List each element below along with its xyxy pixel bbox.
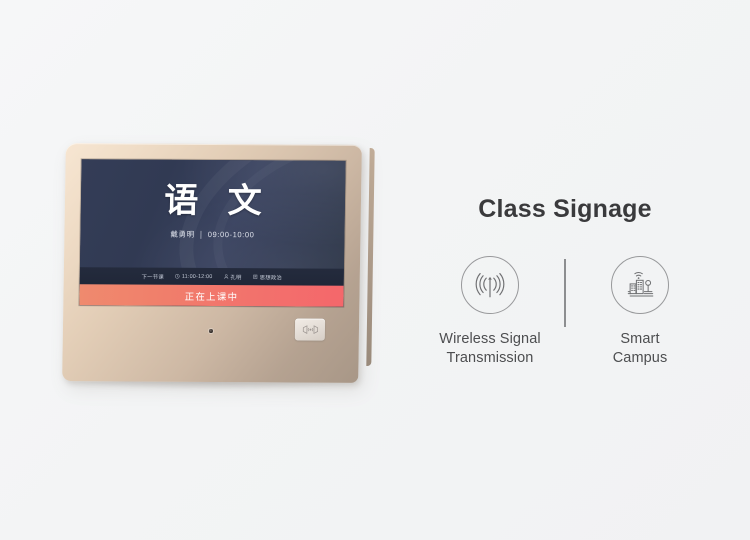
page-background: 语 文 戴勇明 09:00-10:00 下一节课	[0, 0, 750, 540]
device-bezel: 语 文 戴勇明 09:00-10:00 下一节课	[62, 143, 362, 383]
class-status-text: 正在上课中	[185, 288, 239, 302]
feature-label-line2: Campus	[613, 350, 668, 366]
next-class-strip: 下一节课 11:00-12:00	[80, 267, 344, 286]
feature-icon-circle	[461, 256, 519, 314]
current-teacher-name: 戴勇明	[170, 229, 194, 240]
feature-wireless-signal-transmission: Wireless Signal Transmission	[422, 256, 558, 369]
feature-list: Wireless Signal Transmission	[400, 256, 730, 369]
meta-divider	[201, 230, 202, 238]
next-class-teacher-cell: 孔明	[223, 273, 241, 281]
class-status-banner: 正在上课中	[79, 284, 343, 307]
info-panel: Class Signage	[400, 196, 730, 369]
device-side-edge	[366, 148, 374, 366]
next-class-label: 下一节课	[141, 272, 164, 280]
person-icon	[223, 274, 228, 279]
feature-label-line1: Wireless Signal	[439, 331, 540, 347]
next-class-subject-cell: 思想政治	[253, 273, 283, 281]
next-class-time-cell: 11:00-12:00	[175, 273, 213, 279]
class-signage-device: 语 文 戴勇明 09:00-10:00 下一节课	[58, 136, 370, 391]
current-subject-title: 语 文	[81, 183, 346, 219]
feature-label-line2: Transmission	[447, 350, 534, 366]
device-screen[interactable]: 语 文 戴勇明 09:00-10:00 下一节课	[79, 159, 345, 307]
feature-label: Wireless Signal Transmission	[439, 330, 540, 369]
book-icon	[253, 274, 258, 279]
current-class-meta: 戴勇明 09:00-10:00	[80, 228, 344, 241]
feature-label: Smart Campus	[613, 330, 668, 369]
wireless-antenna-icon	[472, 267, 508, 303]
smart-campus-buildings-icon	[622, 267, 658, 303]
clock-icon	[175, 274, 180, 279]
broadcast-speaker-button[interactable]	[295, 319, 325, 341]
page-title: Class Signage	[400, 196, 730, 224]
camera-lens-dot	[209, 329, 213, 333]
next-class-teacher: 孔明	[230, 273, 241, 281]
broadcast-speaker-icon	[301, 325, 318, 335]
next-class-subject: 思想政治	[260, 273, 283, 281]
next-class-label-cell: 下一节课	[141, 272, 164, 280]
feature-icon-circle	[611, 256, 669, 314]
next-class-time: 11:00-12:00	[182, 273, 213, 279]
current-class-time: 09:00-10:00	[208, 230, 255, 239]
feature-divider	[564, 259, 566, 327]
feature-smart-campus: Smart Campus	[572, 256, 708, 369]
feature-label-line1: Smart	[620, 331, 659, 347]
